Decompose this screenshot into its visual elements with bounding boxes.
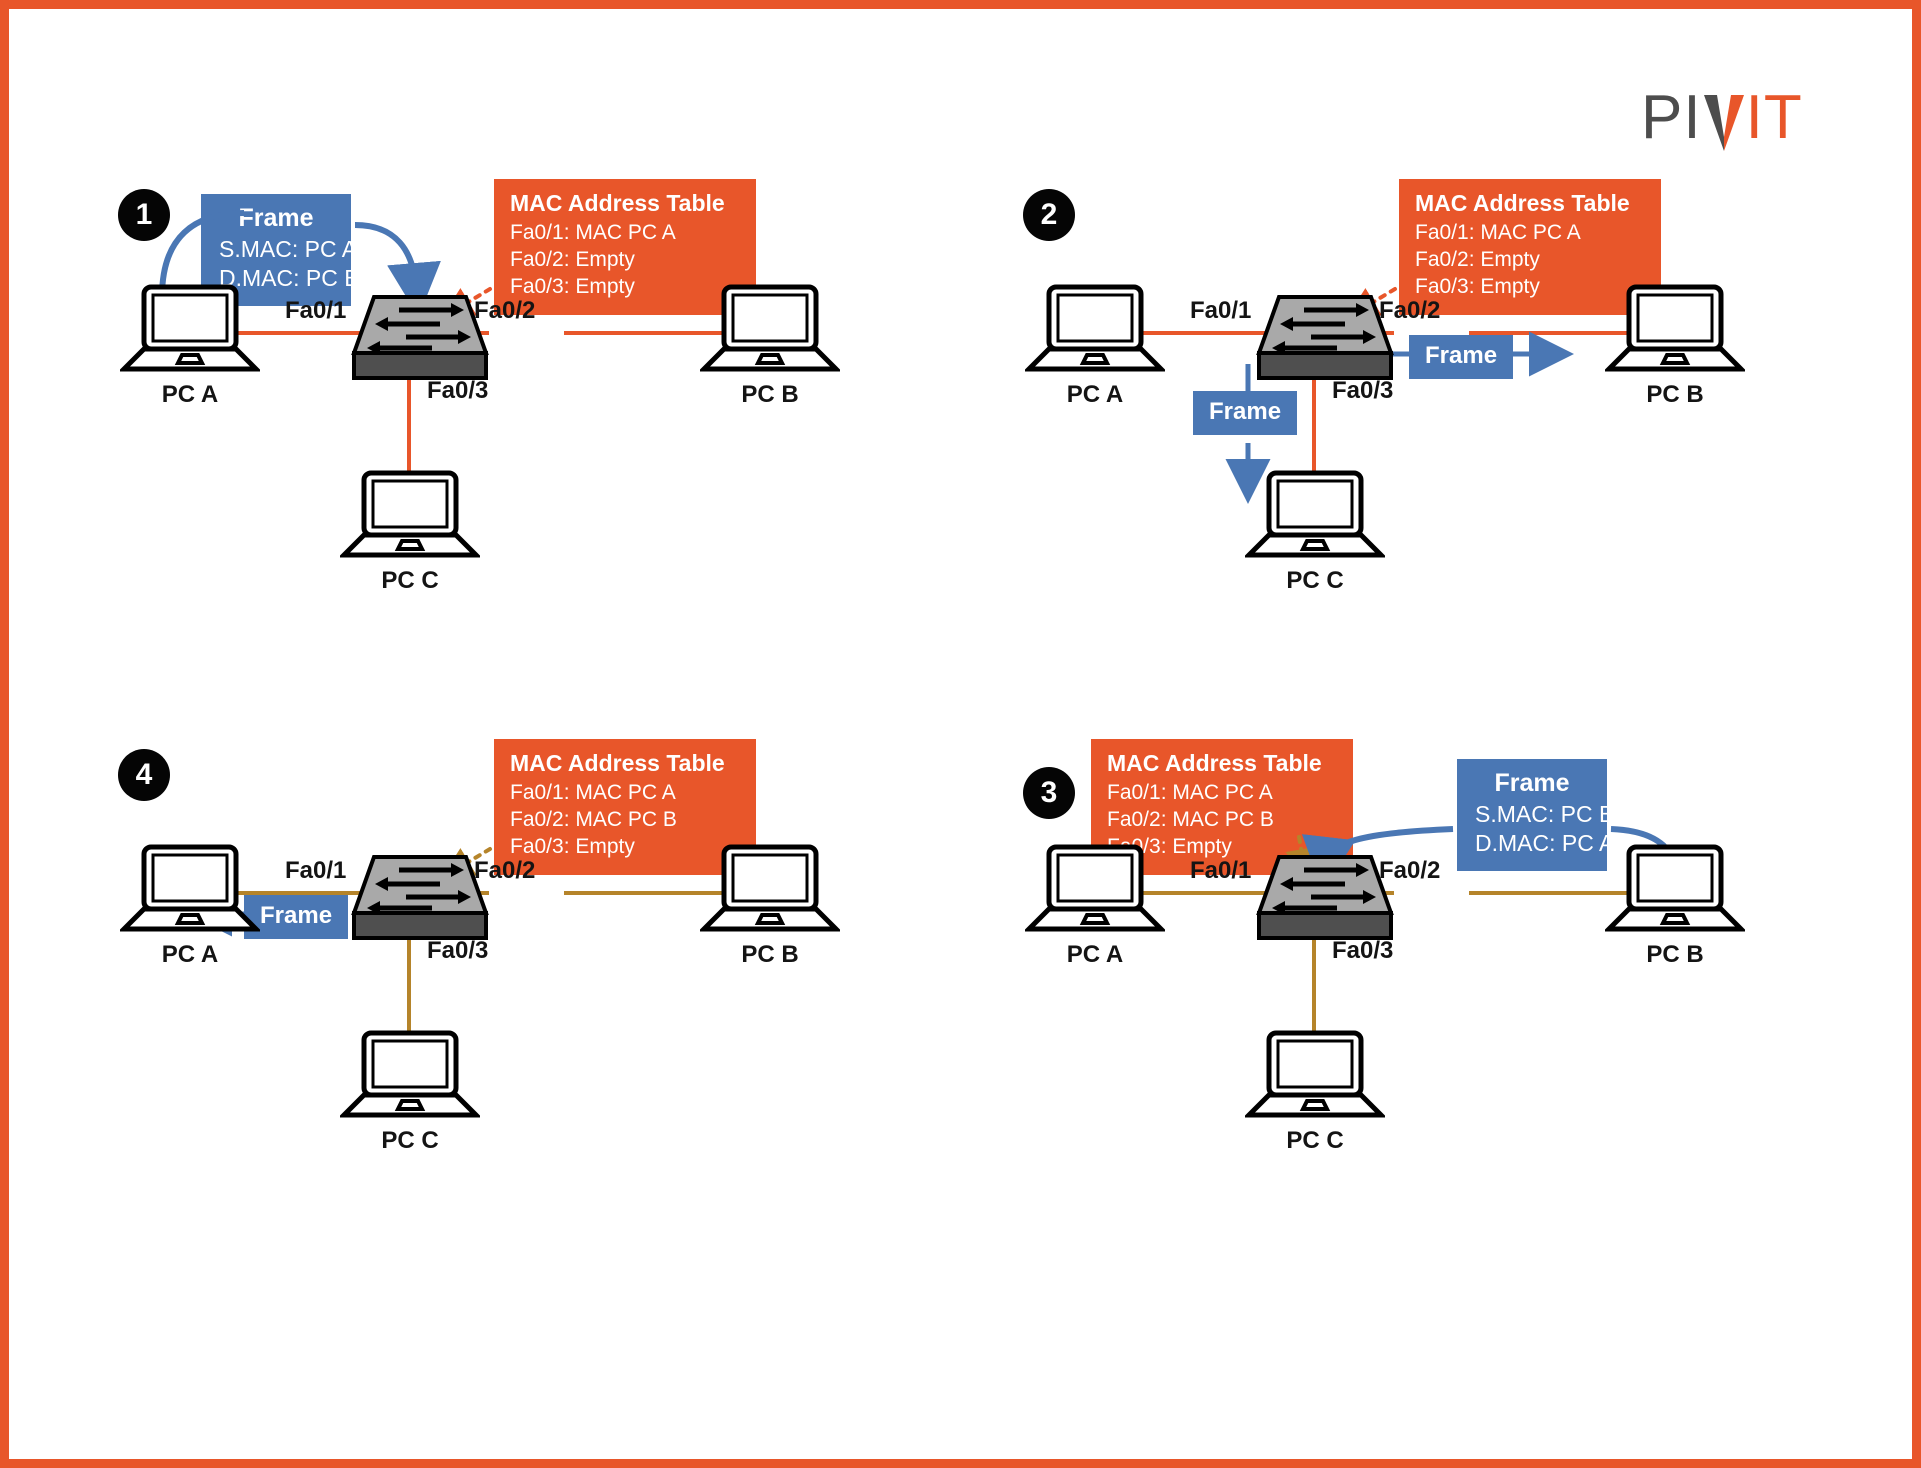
pc-label-b-1: PC B (700, 381, 840, 409)
pc-label-b-4: PC B (700, 941, 840, 969)
panel-step-1: 1 MAC Address Table Fa0/1: MAC PC A Fa0/… (104, 179, 1004, 739)
laptop-pc-b-3 (1605, 843, 1745, 940)
frame-box-smac: S.MAC: PC B (1475, 800, 1589, 830)
mac-table-title: MAC Address Table (1415, 189, 1645, 218)
port-label-fa02-1: Fa0/2 (474, 297, 535, 325)
pc-label-b-2: PC B (1605, 381, 1745, 409)
network-switch-3 (1255, 851, 1395, 948)
pc-label-c-2: PC C (1245, 567, 1385, 595)
pc-label-c-1: PC C (340, 567, 480, 595)
laptop-pc-c-1 (340, 469, 480, 566)
mac-table-row-fa02: Fa0/2: Empty (510, 247, 740, 274)
pc-label-a-2: PC A (1025, 381, 1165, 409)
logo-vee-icon (1702, 87, 1746, 149)
laptop-pc-b-1 (700, 283, 840, 380)
port-label-fa01-4: Fa0/1 (285, 857, 346, 885)
port-label-fa03-2: Fa0/3 (1332, 377, 1393, 405)
frame-info-box-3: Frame S.MAC: PC B D.MAC: PC A (1457, 759, 1607, 871)
port-label-fa01-1: Fa0/1 (285, 297, 346, 325)
laptop-pc-a-2 (1025, 283, 1165, 380)
mac-table-row-fa01: Fa0/1: MAC PC A (1415, 220, 1645, 247)
pc-label-a-4: PC A (120, 941, 260, 969)
frame-box-title: Frame (1475, 767, 1589, 800)
pc-label-a-1: PC A (120, 381, 260, 409)
port-label-fa03-4: Fa0/3 (427, 937, 488, 965)
mac-table-row-fa01: Fa0/1: MAC PC A (510, 780, 740, 807)
laptop-pc-b-2 (1605, 283, 1745, 380)
mac-table-title: MAC Address Table (510, 749, 740, 778)
mac-table-row-fa01: Fa0/1: MAC PC A (1107, 780, 1337, 807)
network-switch-4 (350, 851, 490, 948)
step-badge-4: 4 (118, 749, 170, 801)
step-badge-1: 1 (118, 189, 170, 241)
laptop-pc-c-2 (1245, 469, 1385, 566)
mac-table-row-fa02: Fa0/2: MAC PC B (510, 807, 740, 834)
panel-step-4: 4 MAC Address Table Fa0/1: MAC PC A Fa0/… (104, 739, 1004, 1299)
panel-step-3: 3 MAC Address Table Fa0/1: MAC PC A Fa0/… (1009, 739, 1909, 1299)
mac-table-title: MAC Address Table (1107, 749, 1337, 778)
laptop-pc-b-4 (700, 843, 840, 940)
pivit-logo: PIIT (1641, 87, 1803, 149)
frame-arrow-curve-out-1 (355, 225, 416, 287)
port-label-fa03-3: Fa0/3 (1332, 937, 1393, 965)
port-label-fa02-3: Fa0/2 (1379, 857, 1440, 885)
frame-box-title: Frame (219, 202, 333, 235)
frame-pill-down-2: Frame (1193, 391, 1297, 435)
panel-step-2: 2 MAC Address Table Fa0/1: MAC PC A Fa0/… (1009, 179, 1909, 739)
port-label-fa03-1: Fa0/3 (427, 377, 488, 405)
laptop-pc-a-1 (120, 283, 260, 380)
port-label-fa01-3: Fa0/1 (1190, 857, 1251, 885)
port-label-fa01-2: Fa0/1 (1190, 297, 1251, 325)
logo-text-it: IT (1746, 83, 1803, 152)
diagram-page: PIIT 1 MAC Address Table Fa0/1: MAC PC A… (0, 0, 1921, 1468)
laptop-pc-c-3 (1245, 1029, 1385, 1126)
mac-table-row-fa02: Fa0/2: MAC PC B (1107, 807, 1337, 834)
mac-table-title: MAC Address Table (510, 189, 740, 218)
network-switch-1 (350, 291, 490, 388)
step-badge-3: 3 (1023, 767, 1075, 819)
logo-text-pi: PI (1641, 83, 1702, 152)
pc-label-b-3: PC B (1605, 941, 1745, 969)
pc-label-a-3: PC A (1025, 941, 1165, 969)
pc-label-c-4: PC C (340, 1127, 480, 1155)
port-label-fa02-4: Fa0/2 (474, 857, 535, 885)
frame-pill-right-2: Frame (1409, 335, 1513, 379)
laptop-pc-a-3 (1025, 843, 1165, 940)
mac-table-row-fa01: Fa0/1: MAC PC A (510, 220, 740, 247)
port-label-fa02-2: Fa0/2 (1379, 297, 1440, 325)
laptop-pc-c-4 (340, 1029, 480, 1126)
step-badge-2: 2 (1023, 189, 1075, 241)
laptop-pc-a-4 (120, 843, 260, 940)
pc-label-c-3: PC C (1245, 1127, 1385, 1155)
mac-table-row-fa02: Fa0/2: Empty (1415, 247, 1645, 274)
network-switch-2 (1255, 291, 1395, 388)
frame-box-dmac: D.MAC: PC A (1475, 829, 1589, 859)
frame-box-smac: S.MAC: PC A (219, 235, 333, 265)
